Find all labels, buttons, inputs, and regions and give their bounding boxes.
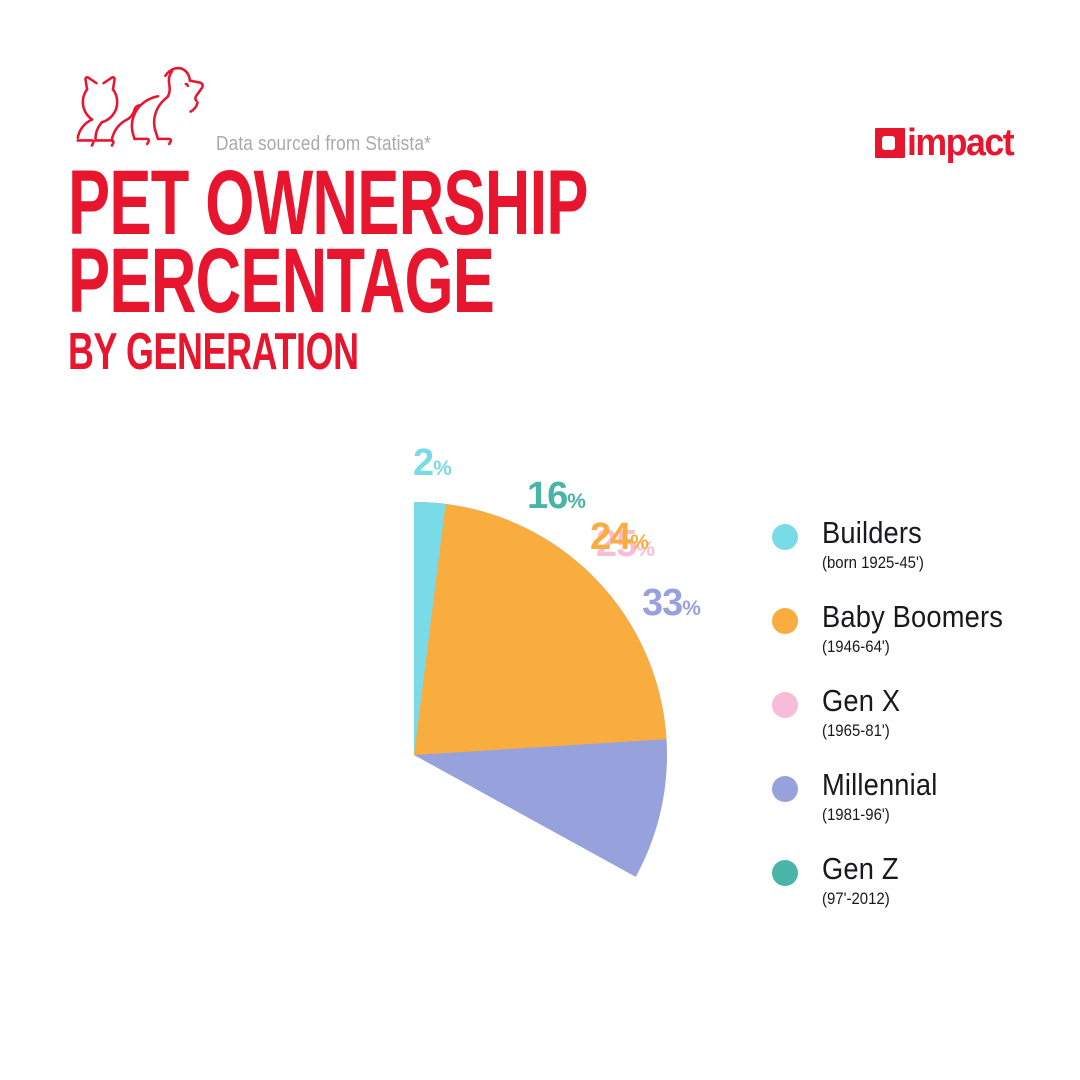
pie-label-builders: 2% bbox=[413, 444, 451, 482]
pie-slice-builders bbox=[414, 502, 446, 755]
pie-label-baby-boomers: 24% bbox=[590, 518, 648, 556]
impact-logo: impact bbox=[875, 124, 1020, 162]
legend-item-years: (born 1925-45') bbox=[822, 552, 924, 574]
chart-legend: Builders(born 1925-45')Baby Boomers(1946… bbox=[772, 516, 1072, 936]
legend-color-dot-icon bbox=[772, 524, 798, 550]
legend-item-label: Builders bbox=[822, 516, 924, 550]
title-line-3: BY GENERATION bbox=[68, 322, 594, 380]
legend-item-label: Baby Boomers bbox=[822, 600, 1003, 634]
legend-item-text: Builders(born 1925-45') bbox=[822, 516, 938, 574]
legend-item-text: Gen Z(97'-2012) bbox=[822, 852, 909, 910]
legend-item-label: Gen X bbox=[822, 684, 900, 718]
pie-label-percent-sign: % bbox=[636, 538, 654, 561]
legend-item-years: (97'-2012) bbox=[822, 888, 899, 910]
pie-label-value: 2 bbox=[413, 442, 433, 484]
pie-slice-gen-z bbox=[414, 502, 628, 755]
title-line-2: PERCENTAGE bbox=[68, 238, 588, 325]
pie-label-value: 33 bbox=[642, 582, 682, 624]
legend-item-text: Millennial(1981-96') bbox=[822, 768, 953, 826]
pie-label-gen-x: 25% bbox=[596, 525, 654, 563]
pie-label-percent-sign: % bbox=[630, 531, 648, 554]
legend-item-text: Gen X(1965-81') bbox=[822, 684, 911, 742]
pie-label-percent-sign: % bbox=[433, 457, 451, 480]
legend-item-label: Millennial bbox=[822, 768, 937, 802]
page-title: PET OWNERSHIP PERCENTAGE BY GENERATION bbox=[68, 160, 743, 374]
pie-label-gen-z: 16% bbox=[527, 477, 585, 515]
legend-color-dot-icon bbox=[772, 776, 798, 802]
legend-color-dot-icon bbox=[772, 860, 798, 886]
legend-item-years: (1965-81') bbox=[822, 720, 900, 742]
legend-color-dot-icon bbox=[772, 692, 798, 718]
legend-item-label: Gen Z bbox=[822, 852, 899, 886]
pie-label-value: 25 bbox=[596, 523, 636, 565]
pie-label-millennial: 33% bbox=[642, 584, 700, 622]
pie-slice-millennial bbox=[414, 502, 667, 877]
legend-color-dot-icon bbox=[772, 608, 798, 634]
legend-item-text: Baby Boomers(1946-64') bbox=[822, 600, 1028, 658]
legend-item-years: (1946-64') bbox=[822, 636, 1003, 658]
pie-label-percent-sign: % bbox=[567, 490, 585, 513]
pie-label-value: 16 bbox=[527, 475, 567, 517]
impact-logo-word: impact bbox=[907, 124, 1013, 162]
cat-and-dog-outline-icon bbox=[60, 62, 210, 152]
legend-item-gen-x[interactable]: Gen X(1965-81') bbox=[772, 684, 1072, 742]
pie-slice-baby-boomers bbox=[414, 502, 667, 755]
legend-item-builders[interactable]: Builders(born 1925-45') bbox=[772, 516, 1072, 574]
pie-slice-gen-x bbox=[414, 502, 667, 755]
legend-item-gen-z[interactable]: Gen Z(97'-2012) bbox=[772, 852, 1072, 910]
impact-square-mark-icon bbox=[875, 128, 905, 158]
legend-item-years: (1981-96') bbox=[822, 804, 937, 826]
pie-label-value: 24 bbox=[590, 516, 630, 558]
pie-label-percent-sign: % bbox=[682, 597, 700, 620]
legend-item-millennial[interactable]: Millennial(1981-96') bbox=[772, 768, 1072, 826]
legend-item-baby-boomers[interactable]: Baby Boomers(1946-64') bbox=[772, 600, 1072, 658]
